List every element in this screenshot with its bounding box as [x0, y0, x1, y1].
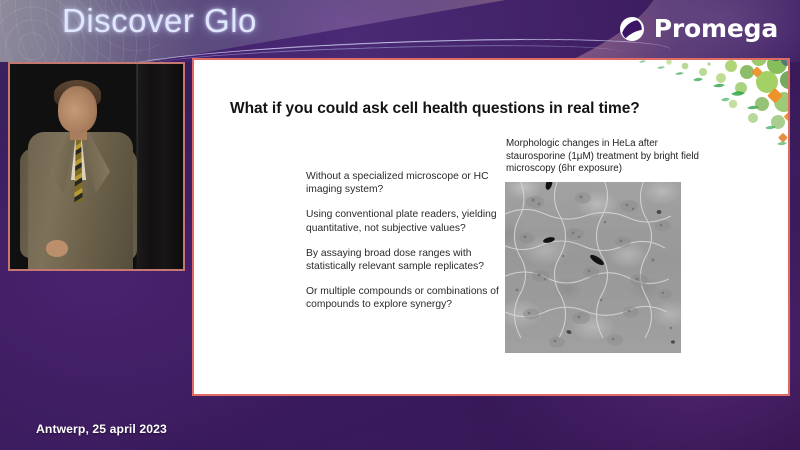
promega-wordmark: Promega: [654, 14, 778, 43]
stage-curtain: [137, 64, 183, 269]
footer-location-date: Antwerp, 25 april 2023: [36, 422, 167, 436]
microscopy-image: [505, 182, 681, 353]
promega-logo: Promega: [619, 14, 778, 43]
slide-paragraph: Or multiple compounds or combinations of…: [306, 285, 506, 311]
webinar-stage: Discover Glo Promega: [0, 0, 800, 450]
speaker-video-frame: [10, 64, 183, 269]
microscopy-cell-outlines-icon: [505, 182, 681, 353]
slide-paragraph: Without a specialized microscope or HC i…: [306, 170, 506, 196]
presenter-hand: [46, 240, 68, 257]
header-banner: Discover Glo Promega: [0, 0, 800, 62]
presenter-head: [58, 86, 97, 133]
banner-title: Discover Glo: [62, 2, 257, 40]
speaker-video-thumbnail[interactable]: [8, 62, 185, 271]
microscopy-image-caption: Morphologic changes in HeLa after stauro…: [506, 138, 701, 176]
slide-title: What if you could ask cell health questi…: [230, 100, 640, 118]
slide-paragraph: By assaying broad dose ranges with stati…: [306, 247, 506, 273]
promega-swirl-logo-icon: [619, 16, 645, 42]
slide-body-text: Without a specialized microscope or HC i…: [306, 170, 506, 312]
slide-paragraph: Using conventional plate readers, yieldi…: [306, 208, 506, 234]
presentation-slide[interactable]: What if you could ask cell health questi…: [192, 58, 790, 396]
